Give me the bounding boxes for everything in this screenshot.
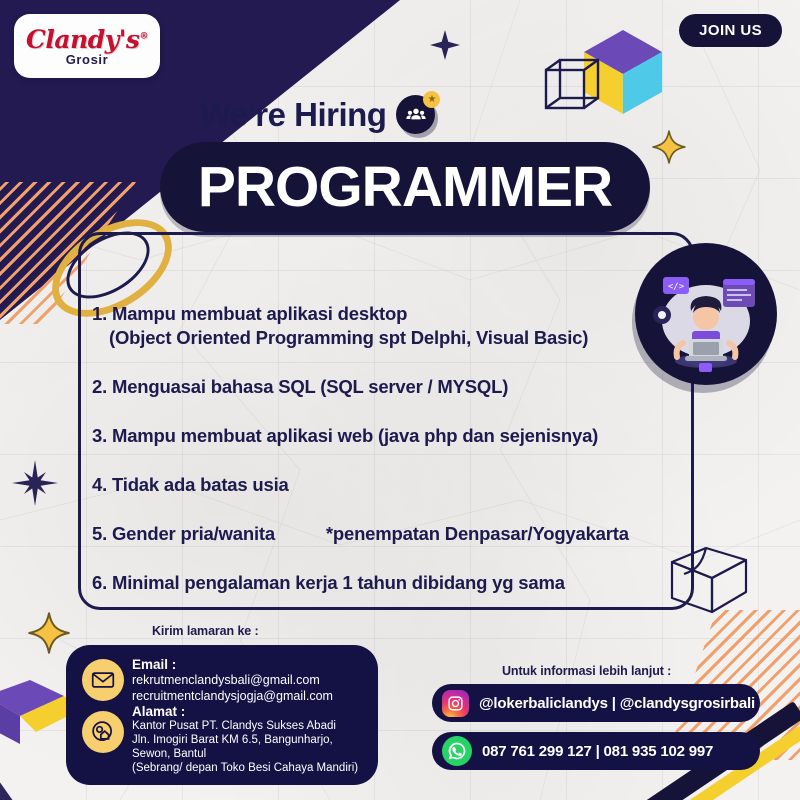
logo-wordmark: Clandy's® — [26, 27, 148, 52]
hiring-heading-row: We're Hiring ★ — [200, 95, 435, 134]
requirement-item: 2. Menguasai bahasa SQL (SQL server / MY… — [92, 375, 712, 399]
requirements-list: 1. Mampu membuat aplikasi desktop (Objec… — [92, 302, 712, 620]
requirement-number: 2. — [92, 376, 107, 397]
requirement-number: 1. — [92, 303, 107, 324]
logo-name: Clandy's — [26, 25, 140, 54]
instagram-icon — [442, 690, 469, 717]
requirement-number: 4. — [92, 474, 107, 495]
requirement-number: 6. — [92, 572, 107, 593]
address-line-4: (Sebrang/ depan Toko Besi Cahaya Mandiri… — [132, 762, 370, 776]
cube-wireframe-icon — [542, 56, 604, 118]
requirement-item: 3. Mampu membuat aplikasi web (java php … — [92, 424, 712, 448]
hiring-poster: Clandy's® Grosir JOIN US — [0, 0, 800, 800]
people-group-icon: ★ — [396, 95, 435, 134]
star-yellow-bottom-left-icon — [28, 612, 70, 654]
requirement-text: Mampu membuat aplikasi web (java php dan… — [112, 425, 598, 446]
address-line-1: Kantor Pusat PT. Clandys Sukses Abadi — [132, 720, 370, 734]
email-value-2[interactable]: recruitmentclandysjogja@gmail.com — [132, 689, 370, 704]
requirement-item: 1. Mampu membuat aplikasi desktop (Objec… — [92, 302, 712, 350]
requirement-text: Tidak ada batas usia — [112, 474, 289, 495]
hiring-text: We're Hiring — [200, 96, 386, 134]
requirement-item: 6. Minimal pengalaman kerja 1 tahun dibi… — [92, 571, 712, 595]
whatsapp-pill[interactable]: 087 761 299 127 | 081 935 102 997 — [432, 732, 760, 770]
instagram-handles: @lokerbaliclandys | @clandysgrosirbali — [479, 695, 755, 712]
star-navy-left-icon — [12, 460, 58, 506]
programmer-with-laptop-illustration: </> — [635, 243, 777, 385]
info-heading: Untuk informasi lebih lanjut : — [502, 664, 671, 678]
address-line-3: Sewon, Bantul — [132, 748, 370, 762]
svg-text:</>: </> — [668, 282, 685, 292]
position-title-pill: PROGRAMMER — [160, 142, 650, 232]
address-label: Alamat : — [132, 704, 370, 720]
requirement-note: *penempatan Denpasar/Yogyakarta — [280, 523, 629, 544]
requirement-item: 4. Tidak ada batas usia — [92, 473, 712, 497]
requirement-subtext: (Object Oriented Programming spt Delphi,… — [92, 326, 712, 350]
brand-logo: Clandy's® Grosir — [14, 14, 160, 78]
address-line-2: Jln. Imogiri Barat KM 6.5, Bangunharjo, — [132, 734, 370, 748]
instagram-pill[interactable]: @lokerbaliclandys | @clandysgrosirbali — [432, 684, 760, 722]
apply-heading: Kirim lamaran ke : — [152, 624, 259, 638]
requirement-number: 5. — [92, 523, 107, 544]
logo-subtitle: Grosir — [66, 53, 109, 66]
email-label: Email : — [132, 657, 370, 673]
requirement-text: Minimal pengalaman kerja 1 tahun dibidan… — [112, 572, 565, 593]
requirement-text: Menguasai bahasa SQL (SQL server / MYSQL… — [112, 376, 508, 397]
position-title: PROGRAMMER — [198, 159, 612, 216]
star-badge-icon: ★ — [423, 91, 440, 108]
requirement-item: 5. Gender pria/wanita *penempatan Denpas… — [92, 522, 712, 546]
logo-registered-mark: ® — [140, 31, 149, 41]
apply-details: Email : rekrutmenclandysbali@gmail.com r… — [132, 657, 370, 776]
requirement-text: Mampu membuat aplikasi desktop — [112, 303, 407, 324]
requirement-number: 3. — [92, 425, 107, 446]
whatsapp-icon — [442, 736, 472, 766]
join-us-badge[interactable]: JOIN US — [679, 14, 782, 47]
requirement-text: Gender pria/wanita — [112, 523, 275, 544]
star-navy-top-icon — [430, 30, 460, 60]
email-value-1[interactable]: rekrutmenclandysbali@gmail.com — [132, 673, 370, 688]
location-pin-icon — [82, 711, 124, 753]
apply-contact-card: Email : rekrutmenclandysbali@gmail.com r… — [66, 645, 378, 785]
star-yellow-top-right-icon — [652, 130, 686, 164]
whatsapp-numbers: 087 761 299 127 | 081 935 102 997 — [482, 743, 713, 760]
envelope-icon — [82, 659, 124, 701]
